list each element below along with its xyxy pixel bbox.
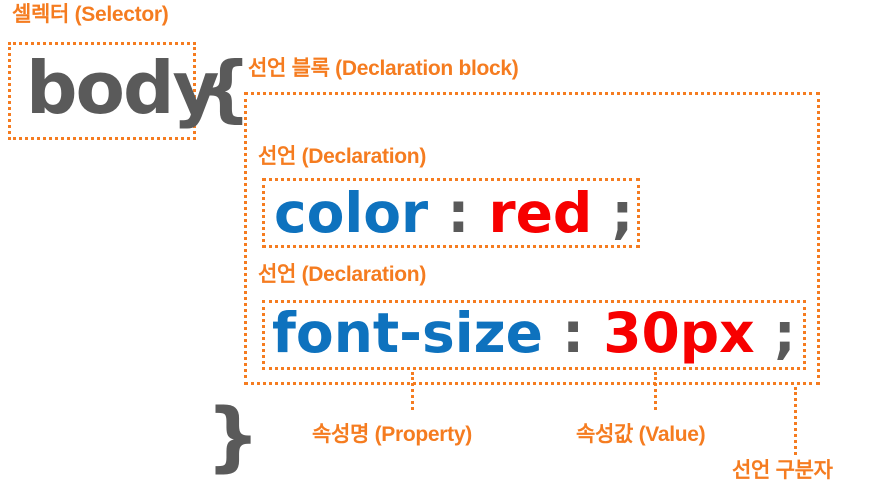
declaration-2-code: font-size : 30px ;	[272, 306, 796, 361]
closing-brace: }	[206, 398, 260, 474]
declaration-block-label: 선언 블록 (Declaration block)	[248, 58, 519, 79]
declaration-2-label: 선언 (Declaration)	[258, 264, 426, 285]
declaration-2-semicolon: ;	[774, 301, 796, 365]
declaration-1-value: red	[488, 181, 592, 245]
declaration-1-label: 선언 (Declaration)	[258, 146, 426, 167]
diagram-canvas: 셀렉터 (Selector) body { } 선언 블록 (Declarati…	[0, 0, 872, 496]
selector-label: 셀렉터 (Selector)	[12, 4, 168, 25]
declaration-1-code: color : red ;	[274, 186, 633, 241]
declaration-1-property: color	[274, 181, 428, 245]
declaration-2-property: font-size	[272, 301, 543, 365]
declaration-1-semicolon: ;	[611, 181, 633, 245]
declaration-2-value: 30px	[603, 301, 754, 365]
declaration-1-colon: :	[447, 181, 469, 245]
value-connector-line	[654, 372, 657, 410]
property-connector-line	[411, 372, 414, 410]
separator-connector-line	[794, 387, 797, 455]
property-callout-label: 속성명 (Property)	[312, 424, 472, 445]
separator-callout-label: 선언 구분자	[732, 460, 833, 481]
declaration-2-colon: :	[562, 301, 584, 365]
selector-code: body	[26, 52, 217, 124]
value-callout-label: 속성값 (Value)	[576, 424, 705, 445]
